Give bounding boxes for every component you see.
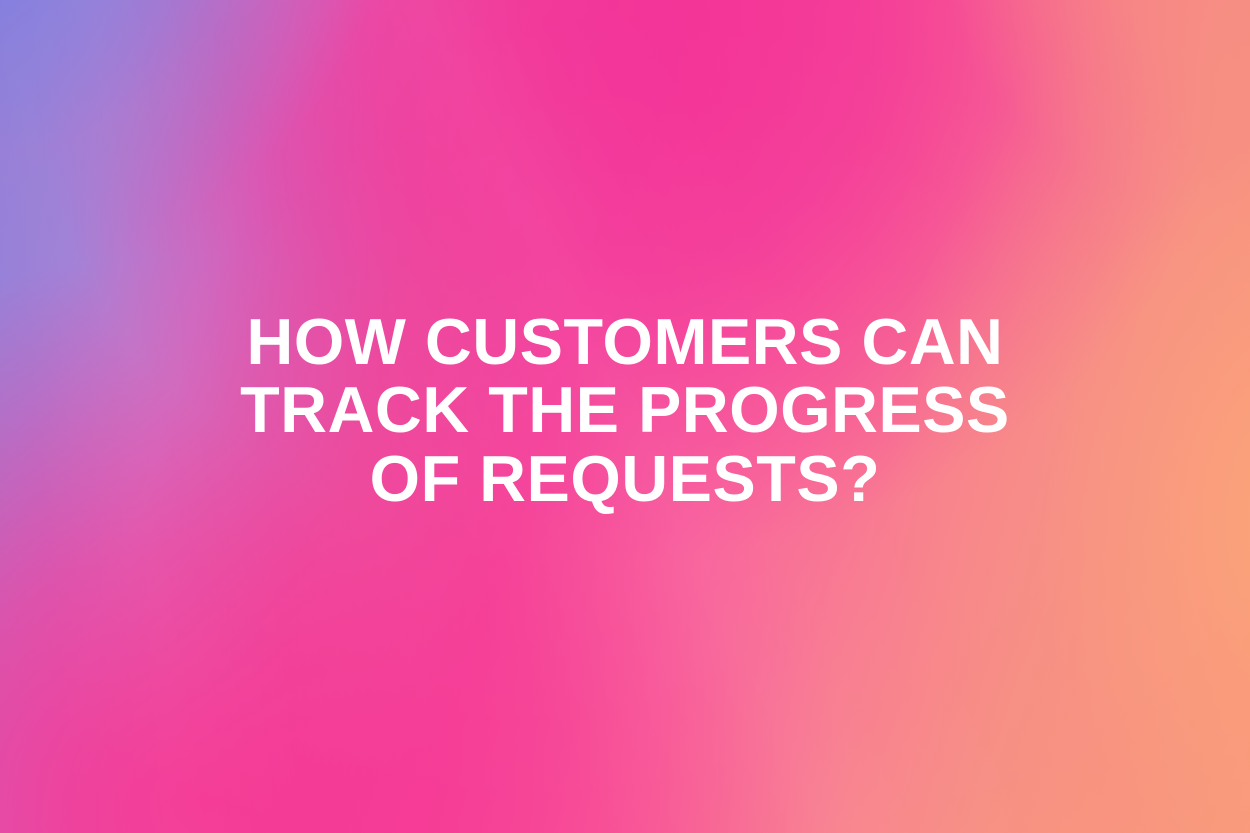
headline-container: HOW CUSTOMERS CAN TRACK THE PROGRESS OF …	[0, 0, 1250, 833]
title-card: HOW CUSTOMERS CAN TRACK THE PROGRESS OF …	[0, 0, 1250, 833]
page-title: HOW CUSTOMERS CAN TRACK THE PROGRESS OF …	[155, 308, 1095, 514]
title-line-2: TRACK THE PROGRESS	[155, 376, 1095, 445]
title-line-3: OF REQUESTS?	[155, 445, 1095, 514]
title-line-1: HOW CUSTOMERS CAN	[155, 308, 1095, 377]
